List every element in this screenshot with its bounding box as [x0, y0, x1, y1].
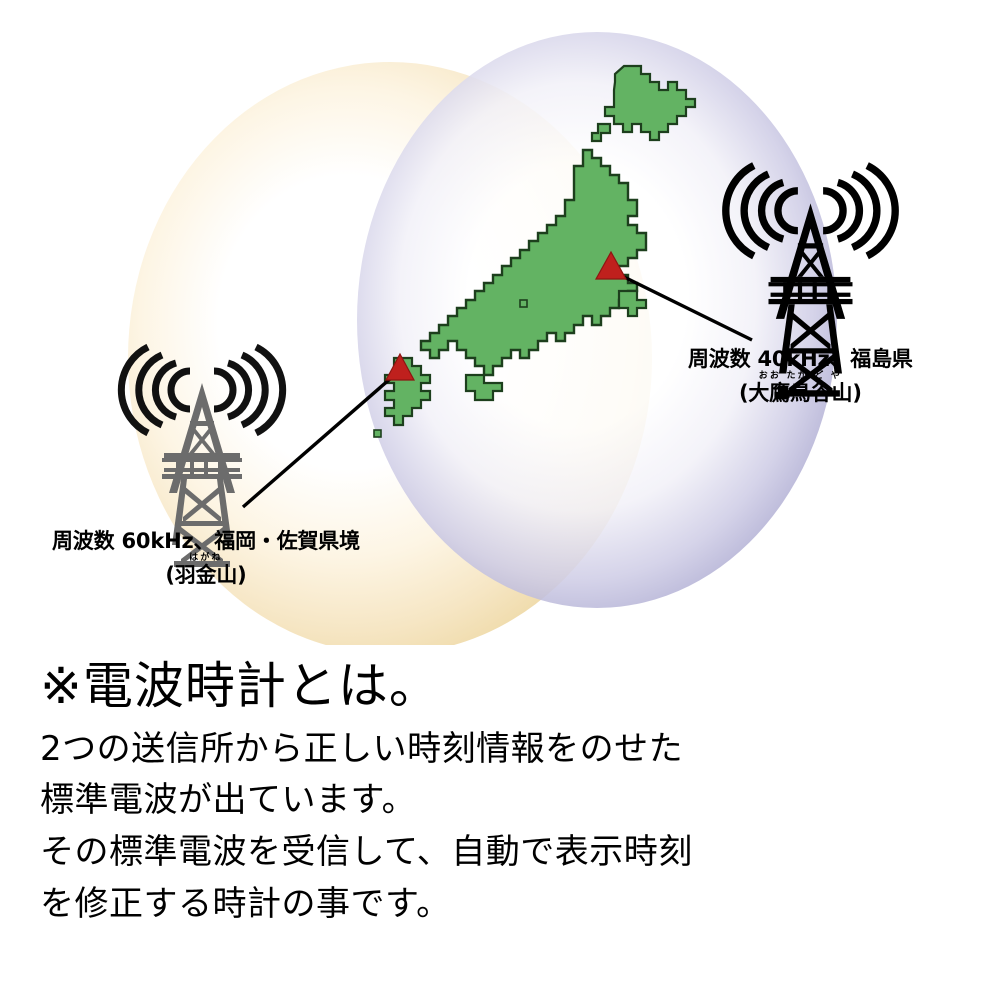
- caption-block: ※電波時計とは。 2つの送信所から正しい時刻情報をのせた 標準電波が出ています。…: [40, 655, 970, 930]
- caption-line-2: 標準電波が出ています。: [40, 775, 970, 827]
- islet-2: [520, 300, 527, 307]
- page-root: 周波数 40kHz、福島県 おお たか ど や (大鷹鳥谷山) 周波数 60kH…: [0, 0, 1000, 1000]
- label-40khz-line1: 周波数 40kHz、福島県: [688, 348, 913, 372]
- label-60khz-station: 周波数 60kHz、福岡・佐賀県境 はがね (羽金山): [52, 530, 360, 587]
- radio-waves-right: [823, 166, 895, 256]
- caption-line-1: 2つの送信所から正しい時刻情報をのせた: [40, 724, 970, 776]
- label-60khz-line2: (羽金山): [52, 564, 360, 588]
- label-60khz-ruby-wrap: はがね (羽金山): [52, 554, 360, 588]
- label-40khz-station: 周波数 40kHz、福島県 おお たか ど や (大鷹鳥谷山): [688, 348, 913, 405]
- label-40khz-line2: (大鷹鳥谷山): [688, 382, 913, 406]
- label-40khz-ruby: おお たか ど や: [688, 372, 913, 381]
- caption-line-4: を修正する時計の事です。: [40, 879, 970, 931]
- caption-heading: ※電波時計とは。: [40, 655, 970, 718]
- label-40khz-ruby-wrap: おお たか ど や (大鷹鳥谷山): [688, 372, 913, 406]
- label-60khz-line1: 周波数 60kHz、福岡・佐賀県境: [52, 530, 360, 554]
- caption-line-3: その標準電波を受信して、自動で表示時刻: [40, 827, 970, 879]
- islet-1: [374, 430, 381, 437]
- label-60khz-ruby: はがね: [52, 554, 360, 563]
